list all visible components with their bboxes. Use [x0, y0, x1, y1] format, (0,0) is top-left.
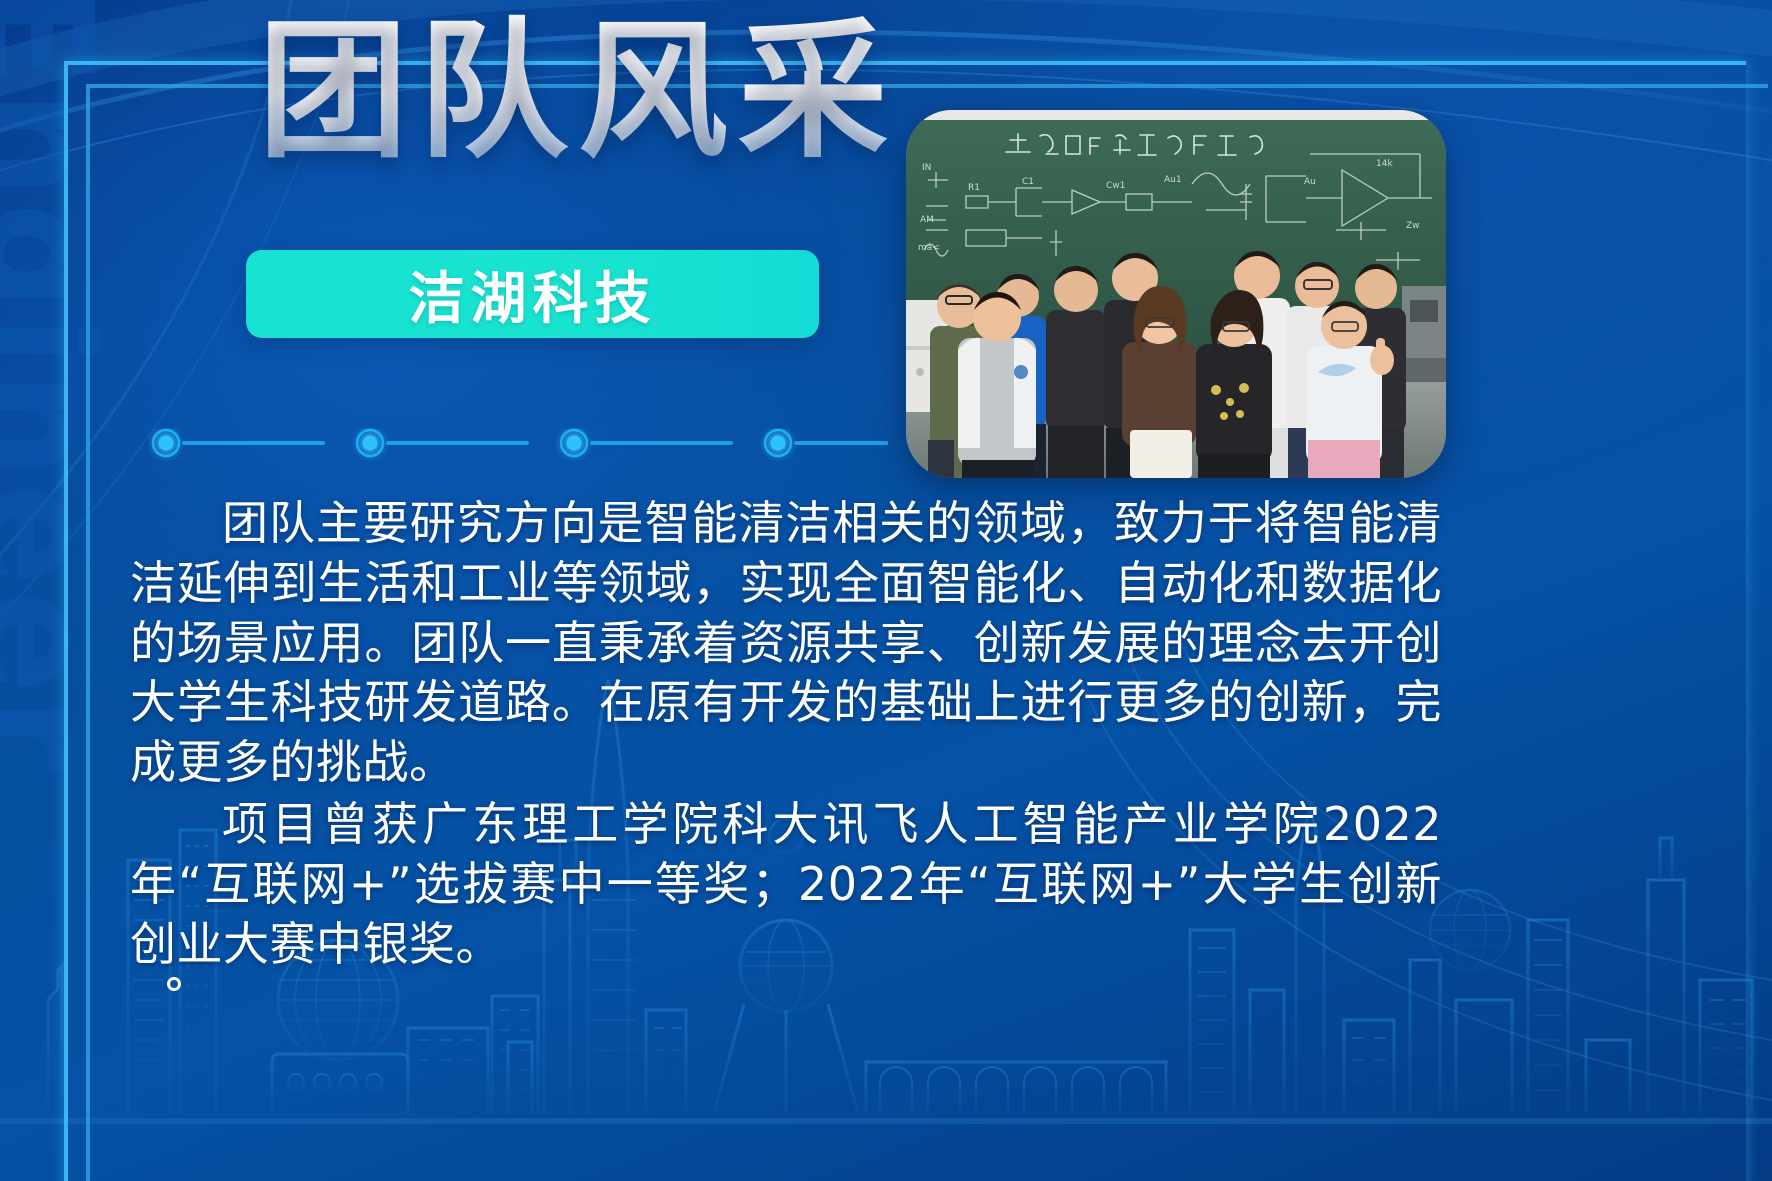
svg-text:C1: C1 [1022, 177, 1034, 187]
team-photo-image: INAMma< R1C1Cw1 Au1Au14k Zw [906, 110, 1446, 478]
svg-text:IN: IN [922, 163, 931, 173]
svg-text:Zw: Zw [1406, 221, 1420, 231]
divider-dot [148, 428, 186, 463]
divider-dot [758, 428, 798, 463]
svg-text:R1: R1 [968, 183, 980, 193]
dotted-divider [148, 428, 888, 470]
divider-dot [350, 428, 390, 463]
team-name-label: 洁湖科技 [409, 254, 657, 335]
divider-dot [554, 428, 594, 463]
svg-text:Au: Au [1304, 177, 1316, 187]
svg-text:Cw1: Cw1 [1106, 181, 1125, 191]
team-name-badge: 洁湖科技 [246, 250, 819, 338]
paragraph-research: 团队主要研究方向是智能清洁相关的领域，致力于将智能清洁延伸到生活和工业等领域，实… [130, 494, 1442, 793]
svg-text:Au1: Au1 [1164, 175, 1182, 185]
poster-canvas: Engineer 团队风采 洁湖科技 [0, 0, 1772, 1181]
svg-text:ma<: ma< [918, 243, 940, 253]
svg-text:AM: AM [920, 215, 934, 225]
paragraph-awards: 项目曾获广东理工学院科大讯飞人工智能产业学院2022年“互联网+”选拔赛中一等奖… [130, 795, 1442, 974]
svg-text:14k: 14k [1376, 159, 1393, 169]
description-text: 团队主要研究方向是智能清洁相关的领域，致力于将智能清洁延伸到生活和工业等领域，实… [130, 494, 1442, 976]
page-title: 团队风采 [258, 14, 898, 172]
team-photo: INAMma< R1C1Cw1 Au1Au14k Zw [906, 110, 1446, 478]
